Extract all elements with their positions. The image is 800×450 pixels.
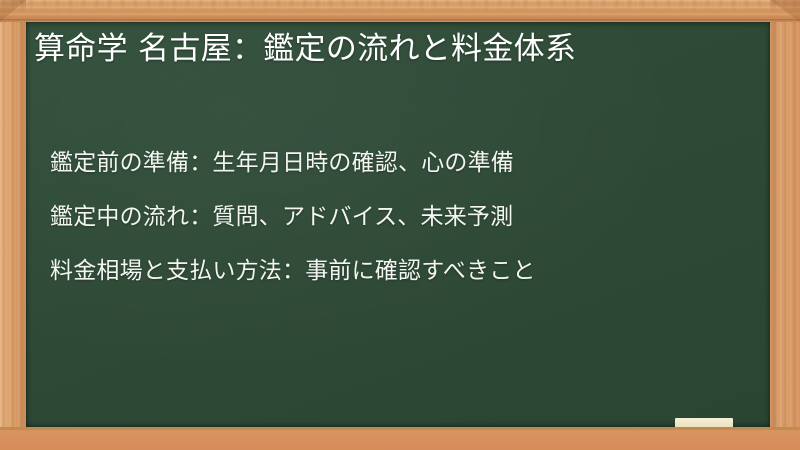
bullet-item-2: 鑑定中の流れ：質問、アドバイス、未来予測 xyxy=(50,206,756,229)
frame-rail-right xyxy=(770,0,800,450)
slide-bullet-list: 鑑定前の準備：生年月日時の確認、心の準備 鑑定中の流れ：質問、アドバイス、未来予… xyxy=(50,152,756,314)
slide-title: 算命学 名古屋：鑑定の流れと料金体系 xyxy=(34,28,752,70)
chalk-eraser-icon xyxy=(675,418,733,427)
frame-corner-top-right xyxy=(770,0,800,22)
chalkboard-surface: 算命学 名古屋：鑑定の流れと料金体系 鑑定前の準備：生年月日時の確認、心の準備 … xyxy=(26,22,770,427)
frame-rail-bottom xyxy=(0,427,800,450)
chalkboard-slide: 算命学 名古屋：鑑定の流れと料金体系 鑑定前の準備：生年月日時の確認、心の準備 … xyxy=(0,0,800,450)
frame-corner-top-left xyxy=(0,0,26,22)
frame-rail-left xyxy=(0,0,26,450)
bullet-item-3: 料金相場と支払い方法：事前に確認すべきこと xyxy=(50,260,756,283)
bullet-item-1: 鑑定前の準備：生年月日時の確認、心の準備 xyxy=(50,152,756,175)
frame-bottom-highlight xyxy=(0,427,800,430)
